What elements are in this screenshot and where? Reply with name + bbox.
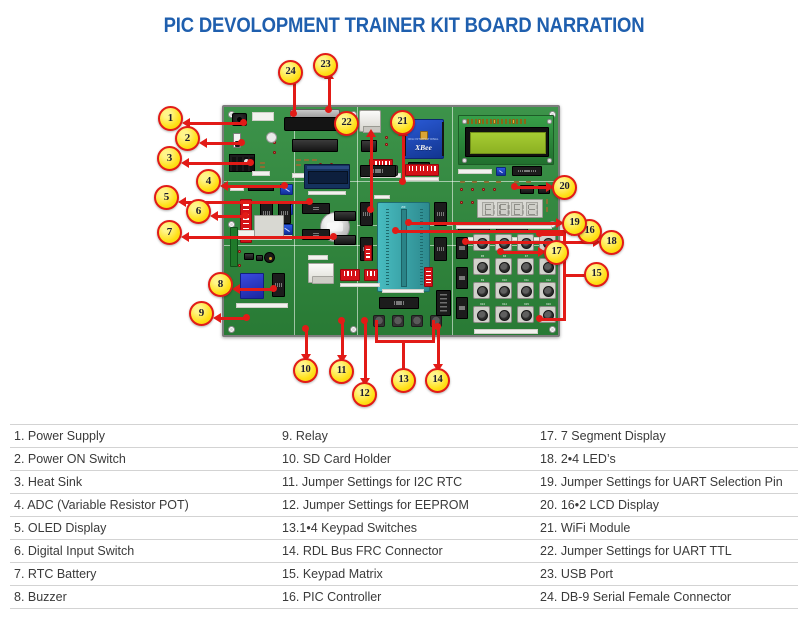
- leader-13-stem: [402, 340, 405, 370]
- seven-segment-digit: [482, 202, 494, 216]
- keypad-key[interactable]: K5: [473, 258, 490, 275]
- leader-24-dot: [290, 110, 297, 117]
- callout-18[interactable]: 18: [599, 230, 624, 255]
- leader-16-dot: [392, 227, 399, 234]
- silkscreen-label: [236, 303, 288, 308]
- keypad-key[interactable]: K11: [517, 282, 534, 299]
- xbee-brand-label: XBee: [404, 143, 443, 152]
- pcb-divider: [224, 181, 560, 182]
- resistor: [312, 159, 317, 161]
- page-title: PIC DEVOLOPMENT TRAINER KIT BOARD NARRAT…: [48, 14, 759, 38]
- jumper-block[interactable]: [424, 267, 433, 287]
- resistor: [484, 181, 489, 183]
- legend-cell-11: 11. Jumper Settings for I2C RTC: [278, 471, 536, 494]
- legend-cell-6: 6. Digital Input Switch: [10, 540, 278, 563]
- keypad-key[interactable]: K15: [517, 306, 534, 323]
- leader-3-dot: [247, 159, 254, 166]
- lcd-screw-hole: [462, 158, 467, 163]
- leader-14-dot: [434, 323, 441, 330]
- legend-cell-17: 17. 7 Segment Display: [536, 425, 798, 448]
- lcd-header-pins: [467, 119, 526, 124]
- resistor: [460, 181, 465, 183]
- leader-13-prong: [375, 320, 378, 342]
- callout-9[interactable]: 9: [189, 301, 214, 326]
- keypad-key[interactable]: K14: [495, 306, 512, 323]
- leader-2-arrow: [199, 138, 207, 148]
- leader-3: [189, 162, 251, 165]
- lcd-screw-hole: [547, 158, 552, 163]
- leader-1-dot: [240, 119, 247, 126]
- silkscreen-label: [382, 289, 424, 293]
- zif-label: ZIF: [378, 205, 429, 209]
- leader-22-arrow: [366, 129, 376, 137]
- legend-cell-14: 14. RDL Bus FRC Connector: [278, 540, 536, 563]
- jumper-block[interactable]: [364, 245, 372, 261]
- legend-cell-16: 16. PIC Controller: [278, 586, 536, 609]
- callout-22[interactable]: 22: [334, 111, 359, 136]
- leader-6-dot: [242, 212, 249, 219]
- leader-13-span: [375, 340, 435, 343]
- header-connector: [379, 297, 419, 309]
- lcd-bezel: [465, 127, 549, 157]
- leader-12-dot: [361, 317, 368, 324]
- resistor: [546, 199, 548, 204]
- legend-cell-3: 3. Heat Sink: [10, 471, 278, 494]
- silkscreen-label: [456, 225, 552, 229]
- electrolytic-capacitor: [266, 132, 277, 143]
- xbee-sublabel: DIGI INTERNATIONAL: [404, 138, 443, 141]
- ic-socket: [254, 215, 284, 237]
- callout-15[interactable]: 15: [584, 262, 609, 287]
- leader-11-dot: [338, 317, 345, 324]
- leader-22: [370, 136, 373, 210]
- max232-ic: [292, 139, 338, 152]
- callout-6[interactable]: 6: [186, 199, 211, 224]
- resistor: [296, 159, 301, 161]
- led-indicator: [493, 188, 496, 191]
- leader-18-dot: [462, 238, 469, 245]
- legend-row: 5. OLED Display 13.1•4 Keypad Switches 2…: [10, 517, 798, 540]
- screw-terminal: [230, 227, 238, 267]
- leader-21: [402, 135, 405, 183]
- keypad-matrix[interactable]: K1 K2 K3 K4 K5 K6 K7 K8 K9 K10 K11 K12 K…: [465, 230, 553, 326]
- keypad-key[interactable]: K9: [473, 282, 490, 299]
- lcd-screen: [470, 132, 546, 154]
- leader-21-dot: [399, 178, 406, 185]
- led-indicator: [460, 201, 463, 204]
- legend-cell-21: 21. WiFi Module: [536, 517, 798, 540]
- led-indicator: [471, 201, 474, 204]
- legend-row: 7. RTC Battery 15. Keypad Matrix 23. USB…: [10, 563, 798, 586]
- header-connector: [302, 203, 330, 214]
- silkscreen-label: [252, 171, 270, 176]
- leader-7-dot: [330, 233, 337, 240]
- leader-11: [341, 320, 344, 357]
- uart-selection-dip[interactable]: [405, 164, 439, 176]
- resistor: [260, 162, 265, 164]
- leader-22-dot: [367, 206, 374, 213]
- seven-segment-digit: [526, 202, 538, 216]
- callout-8[interactable]: 8: [208, 272, 233, 297]
- leader-9-arrow: [213, 313, 221, 323]
- silkscreen-label: [405, 177, 439, 181]
- legend-cell-9: 9. Relay: [278, 425, 536, 448]
- callout-11[interactable]: 11: [329, 359, 354, 384]
- buzzer: [264, 252, 275, 263]
- legend-cell-13: 13.1•4 Keypad Switches: [278, 517, 536, 540]
- callout-1[interactable]: 1: [158, 106, 183, 131]
- callout-12[interactable]: 12: [352, 382, 377, 407]
- resistor: [526, 181, 531, 183]
- leader-17-dot: [497, 248, 504, 255]
- mounting-hole: [549, 326, 556, 333]
- keypad-key[interactable]: K7: [517, 258, 534, 275]
- silkscreen-label: [308, 191, 346, 195]
- leader-5-dot: [306, 198, 313, 205]
- oled-ribbon: [307, 166, 349, 169]
- legend-row: 6. Digital Input Switch 14. RDL Bus FRC …: [10, 540, 798, 563]
- leader-7-arrow: [181, 232, 189, 242]
- silkscreen-label: [340, 283, 380, 287]
- usb-led: [385, 143, 388, 146]
- silkscreen-label: [308, 255, 328, 260]
- legend-cell-10: 10. SD Card Holder: [278, 448, 536, 471]
- leader-6-arrow: [210, 211, 218, 221]
- legend-cell-2: 2. Power ON Switch: [10, 448, 278, 471]
- callout-14[interactable]: 14: [425, 368, 450, 393]
- callout-23[interactable]: 23: [313, 53, 338, 78]
- zif-pin-row: [386, 209, 389, 285]
- transistor: [244, 253, 254, 260]
- port-header: [434, 237, 447, 261]
- leader-9-dot: [243, 314, 250, 321]
- resistor: [260, 166, 265, 168]
- diode: [256, 255, 263, 261]
- leader-5-arrow: [178, 197, 186, 207]
- leader-8-arrow: [232, 284, 240, 294]
- leader-18: [465, 241, 595, 244]
- lcd-screw-hole: [462, 119, 467, 124]
- leader-7: [189, 236, 334, 239]
- callout-24[interactable]: 24: [278, 60, 303, 85]
- legend-cell-7: 7. RTC Battery: [10, 563, 278, 586]
- callout-10[interactable]: 10: [293, 358, 318, 383]
- legend-cell-8: 8. Buzzer: [10, 586, 278, 609]
- legend-table: 1. Power Supply 9. Relay 17. 7 Segment D…: [10, 424, 798, 609]
- legend-row: 8. Buzzer 16. PIC Controller 24. DB-9 Se…: [10, 586, 798, 609]
- status-led: [273, 151, 276, 154]
- silkscreen-label: [252, 112, 274, 121]
- callout-13[interactable]: 13: [391, 368, 416, 393]
- leader-20-dot: [511, 183, 518, 190]
- mounting-hole: [228, 326, 235, 333]
- leader-12: [364, 320, 367, 380]
- legend-cell-19: 19. Jumper Settings for UART Selection P…: [536, 471, 798, 494]
- rtc-ic: [334, 211, 356, 221]
- legend-cell-4: 4. ADC (Variable Resistor POT): [10, 494, 278, 517]
- leader-23-dot: [325, 106, 332, 113]
- keypad-key[interactable]: K13: [473, 306, 490, 323]
- legend-row: 4. ADC (Variable Resistor POT) 12. Jumpe…: [10, 494, 798, 517]
- callout-4[interactable]: 4: [196, 169, 221, 194]
- callout-21[interactable]: 21: [390, 110, 415, 135]
- eeprom-ic: [334, 235, 356, 245]
- leader-15-dot-bottom: [536, 315, 543, 322]
- leader-17: [500, 251, 540, 254]
- callout-2[interactable]: 2: [175, 126, 200, 151]
- lcd-header: [512, 166, 542, 176]
- header-connector: [360, 165, 396, 177]
- oled-display: [304, 164, 350, 189]
- leader-14: [437, 326, 440, 366]
- relay-led: [238, 250, 241, 253]
- page-root: PIC DEVOLOPMENT TRAINER KIT BOARD NARRAT…: [0, 0, 808, 619]
- leader-2: [207, 142, 242, 145]
- legend-cell-15: 15. Keypad Matrix: [278, 563, 536, 586]
- callout-19[interactable]: 19: [562, 211, 587, 236]
- leader-16: [395, 230, 573, 233]
- callout-17[interactable]: 17: [544, 240, 569, 265]
- i2c-rtc-jumper-dip[interactable]: [340, 269, 360, 281]
- pic-controller-zif-socket: ZIF: [377, 202, 430, 292]
- led-indicator: [482, 188, 485, 191]
- legend-row: 2. Power ON Switch 10. SD Card Holder 18…: [10, 448, 798, 471]
- resistor: [472, 181, 477, 183]
- lcd-display-16x2: [458, 115, 554, 165]
- callout-7[interactable]: 7: [157, 220, 182, 245]
- silkscreen-label: [474, 329, 538, 334]
- keypad-key[interactable]: K6: [495, 258, 512, 275]
- usb-led: [385, 136, 388, 139]
- leader-20: [514, 186, 548, 189]
- lcd-screw-hole: [547, 119, 552, 124]
- leader-15-dot-top: [536, 230, 543, 237]
- legend-cell-23: 23. USB Port: [536, 563, 798, 586]
- sd-card-holder: [308, 263, 334, 283]
- resistor: [496, 181, 501, 183]
- legend-grid: 1. Power Supply 9. Relay 17. 7 Segment D…: [10, 424, 798, 609]
- legend-cell-24: 24. DB-9 Serial Female Connector: [536, 586, 798, 609]
- legend-cell-5: 5. OLED Display: [10, 517, 278, 540]
- mounting-hole: [350, 326, 357, 333]
- resistor: [296, 164, 301, 166]
- leader-8: [240, 288, 274, 291]
- zif-pin-row: [420, 209, 423, 285]
- rdl-bus-frc-connector: [436, 290, 451, 316]
- callout-20[interactable]: 20: [552, 175, 577, 200]
- relay: [240, 273, 264, 299]
- leader-3-arrow: [181, 158, 189, 168]
- resistor: [546, 207, 548, 212]
- legend-row: 1. Power Supply 9. Relay 17. 7 Segment D…: [10, 425, 798, 448]
- legend-cell-22: 22. Jumper Settings for UART TTL: [536, 540, 798, 563]
- leader-4-arrow: [220, 181, 228, 191]
- board-diagram: S1 DIGI INTERNATIONAL XBee: [0, 48, 808, 420]
- pcb-board: S1 DIGI INTERNATIONAL XBee: [222, 105, 560, 337]
- leader-19: [408, 222, 558, 225]
- keypad-switch-2[interactable]: [392, 315, 404, 327]
- leader-4: [228, 185, 285, 188]
- seven-segment-display: [477, 199, 543, 218]
- led-indicator: [460, 188, 463, 191]
- seven-segment-digit: [497, 202, 509, 216]
- legend-row: 3. Heat Sink 11. Jumper Settings for I2C…: [10, 471, 798, 494]
- relay-led: [238, 264, 241, 267]
- leader-4-dot: [281, 182, 288, 189]
- silkscreen-label: [374, 195, 390, 199]
- legend-cell-1: 1. Power Supply: [10, 425, 278, 448]
- eeprom-jumper-dip[interactable]: [364, 269, 378, 281]
- leader-2-dot: [238, 139, 245, 146]
- keypad-key[interactable]: K12: [539, 282, 556, 299]
- usb-uart-ic: [361, 140, 377, 152]
- keypad-switch-3[interactable]: [411, 315, 423, 327]
- pcb-divider: [294, 181, 295, 337]
- callout-5[interactable]: 5: [154, 185, 179, 210]
- leader-19-dot: [405, 219, 412, 226]
- oled-glass: [308, 171, 348, 184]
- leader-10: [305, 328, 308, 356]
- leader-1: [190, 122, 244, 125]
- legend-cell-18: 18. 2•4 LED’s: [536, 448, 798, 471]
- leader-15-stem: [563, 274, 586, 277]
- resistor: [304, 159, 309, 161]
- legend-cell-20: 20. 16•2 LCD Display: [536, 494, 798, 517]
- keypad-key[interactable]: K10: [495, 282, 512, 299]
- leader-10-dot: [302, 325, 309, 332]
- pcb-divider: [357, 107, 358, 337]
- led-indicator: [471, 188, 474, 191]
- leader-24: [293, 80, 296, 114]
- legend-cell-12: 12. Jumper Settings for EEPROM: [278, 494, 536, 517]
- lcd-contrast-pot[interactable]: [496, 167, 506, 176]
- seven-segment-digit: [511, 202, 523, 216]
- leader-8-dot: [270, 285, 277, 292]
- callout-3[interactable]: 3: [157, 146, 182, 171]
- silkscreen-label: [458, 169, 492, 174]
